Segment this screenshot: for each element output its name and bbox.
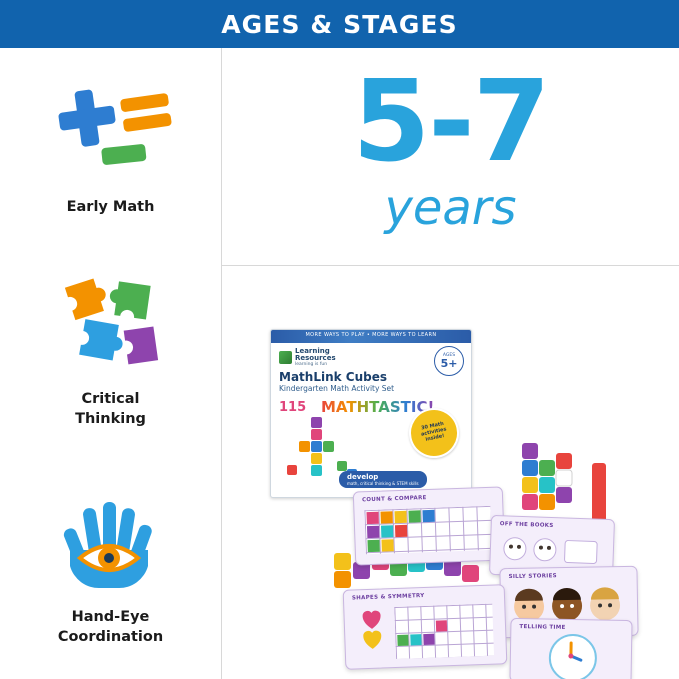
right-column: 5-7 years MORE WAYS TO PLAY • MORE WAYS … xyxy=(222,48,679,679)
feature-early-math: Early Math xyxy=(0,78,221,218)
clock-card-title: TELLING TIME xyxy=(519,624,565,631)
early-math-icon xyxy=(46,78,176,188)
feature-hand-eye: Hand-EyeCoordination xyxy=(0,488,221,647)
age-unit: years xyxy=(222,180,679,236)
counting-card-title: COUNT & COMPARE xyxy=(362,495,427,503)
shapes-card: SHAPES & SYMMETRY xyxy=(343,584,508,670)
faces-card-title: SILLY STORIES xyxy=(509,573,557,580)
ages-and-stages-infographic: AGES & STAGES xyxy=(0,0,679,679)
clock-card: TELLING TIME xyxy=(509,618,632,679)
page-title: AGES & STAGES xyxy=(221,10,458,39)
hand-eye-icon xyxy=(46,488,176,598)
feature-label-hand-eye: Hand-EyeCoordination xyxy=(58,608,163,647)
puzzle-pieces-icon xyxy=(46,270,176,380)
product-photo: MORE WAYS TO PLAY • MORE WAYS TO LEARN L… xyxy=(222,267,679,679)
header-banner: AGES & STAGES xyxy=(0,0,679,48)
features-column: Early Math CriticalT xyxy=(0,48,222,679)
age-panel: 5-7 years xyxy=(222,48,679,266)
feature-label-critical-thinking: CriticalThinking xyxy=(75,390,146,429)
feature-critical-thinking: CriticalThinking xyxy=(0,270,221,429)
counting-card: COUNT & COMPARE xyxy=(353,486,505,565)
age-range: 5-7 xyxy=(222,66,679,178)
animals-card-title: OFF THE BOOKS xyxy=(500,521,554,529)
shapes-card-title: SHAPES & SYMMETRY xyxy=(352,593,425,602)
feature-label-early-math: Early Math xyxy=(67,198,155,218)
